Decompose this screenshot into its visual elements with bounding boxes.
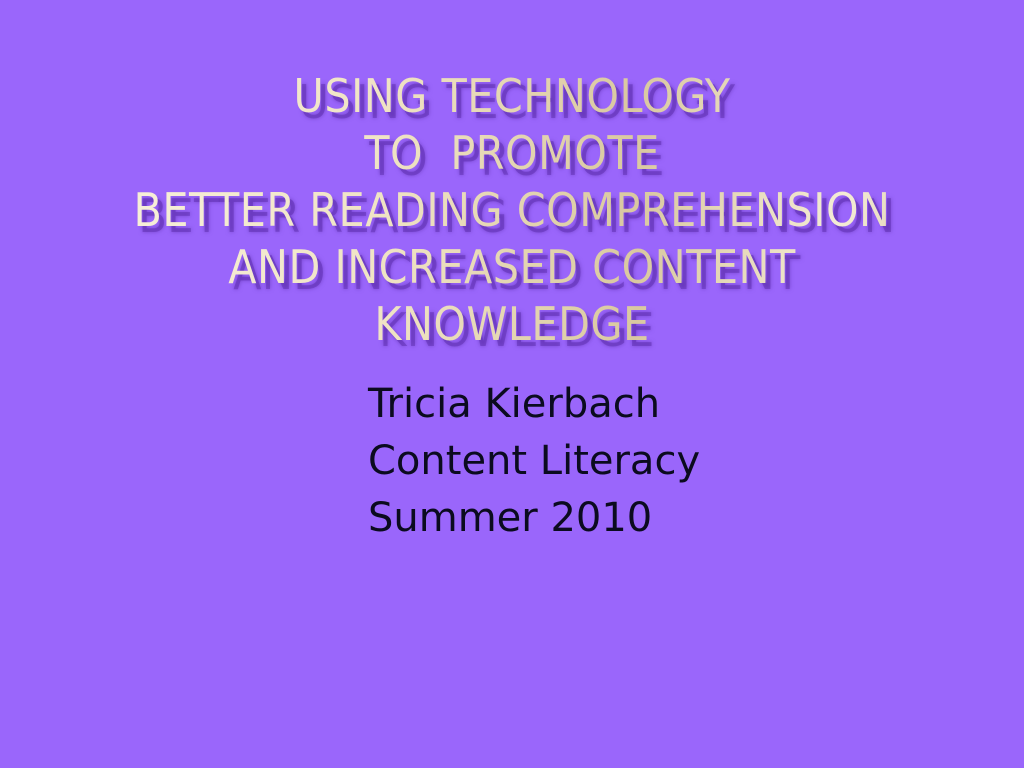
subtitle-line-author: Tricia Kierbach xyxy=(368,376,928,433)
title-line-4-text: and Increased Content xyxy=(0,239,1024,296)
presentation-slide: Using Technology Using Technology To Pro… xyxy=(0,0,1024,768)
title-line-5: Knowledge Knowledge xyxy=(0,296,1024,353)
subtitle-line-term: Summer 2010 xyxy=(368,490,928,547)
title-line-3: Better Reading Comprehension Better Read… xyxy=(0,182,1024,239)
title-line-5-text: Knowledge xyxy=(0,296,1024,353)
slide-title: Using Technology Using Technology To Pro… xyxy=(0,68,1024,353)
title-line-1: Using Technology Using Technology xyxy=(0,68,1024,125)
slide-subtitle: Tricia Kierbach Content Literacy Summer … xyxy=(368,376,928,547)
title-line-2: To Promote To Promote xyxy=(0,125,1024,182)
subtitle-line-course: Content Literacy xyxy=(368,433,928,490)
title-line-2-text: To Promote xyxy=(0,125,1024,182)
title-line-4: and Increased Content and Increased Cont… xyxy=(0,239,1024,296)
title-line-3-text: Better Reading Comprehension xyxy=(0,182,1024,239)
title-line-1-text: Using Technology xyxy=(0,68,1024,125)
